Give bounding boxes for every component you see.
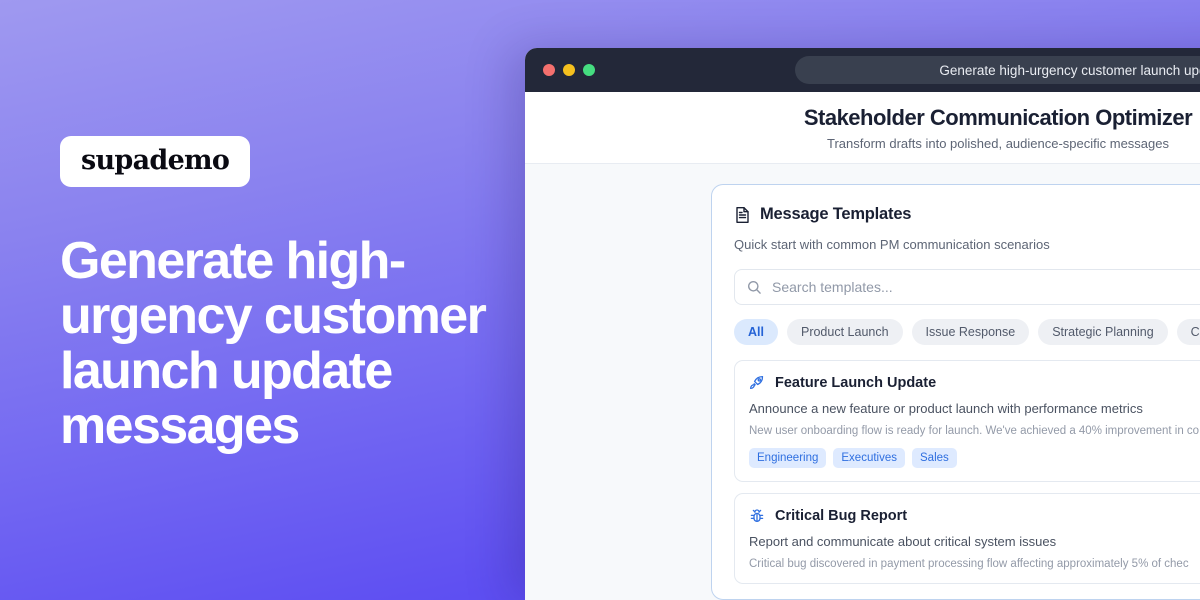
template-card-header: Feature Launch Update	[749, 375, 1200, 391]
template-description: Report and communicate about critical sy…	[749, 534, 1200, 549]
template-card-feature-launch[interactable]: Feature Launch Update Announce a new fea…	[734, 360, 1200, 482]
filter-chip-all[interactable]: All	[734, 319, 778, 345]
supademo-logo: supademo	[60, 136, 250, 187]
search-placeholder: Search templates...	[772, 279, 893, 295]
promo-panel: supademo Generate high-urgency customer …	[0, 0, 525, 600]
panel-subtitle: Quick start with common PM communication…	[734, 237, 1200, 252]
tag-sales[interactable]: Sales	[912, 448, 957, 468]
bug-icon	[749, 508, 765, 524]
app-header: Stakeholder Communication Optimizer Tran…	[525, 92, 1200, 164]
left-rail	[525, 184, 711, 600]
browser-titlebar: Generate high-urgency customer launch up…	[525, 48, 1200, 92]
filter-chip-product-launch[interactable]: Product Launch	[787, 319, 903, 345]
template-card-header: Critical Bug Report	[749, 508, 1200, 524]
maximize-button-icon[interactable]	[583, 64, 595, 76]
rocket-icon	[749, 375, 765, 391]
template-title: Feature Launch Update	[775, 375, 936, 391]
close-button-icon[interactable]	[543, 64, 555, 76]
template-tags: Engineering Executives Sales	[749, 448, 1200, 468]
tag-engineering[interactable]: Engineering	[749, 448, 826, 468]
template-preview: New user onboarding flow is ready for la…	[749, 425, 1200, 437]
window-controls[interactable]	[543, 64, 595, 76]
template-card-critical-bug[interactable]: Critical Bug Report Report and communica…	[734, 493, 1200, 584]
template-description: Announce a new feature or product launch…	[749, 401, 1200, 416]
browser-url-text: Generate high-urgency customer launch up…	[939, 63, 1200, 78]
filter-chip-issue-response[interactable]: Issue Response	[912, 319, 1030, 345]
document-icon	[734, 206, 751, 224]
template-preview: Critical bug discovered in payment proce…	[749, 558, 1200, 570]
panel-header: Message Templates	[734, 205, 1200, 224]
minimize-button-icon[interactable]	[563, 64, 575, 76]
promo-headline: Generate high-urgency customer launch up…	[60, 234, 490, 454]
filter-chip-strategic-planning[interactable]: Strategic Planning	[1038, 319, 1167, 345]
page-title: Stakeholder Communication Optimizer	[525, 105, 1200, 131]
search-icon	[747, 280, 762, 295]
tag-executives[interactable]: Executives	[833, 448, 905, 468]
supademo-logo-text: supademo	[81, 147, 229, 174]
page-subtitle: Transform drafts into polished, audience…	[525, 136, 1200, 151]
filter-chip-customer-success[interactable]: Customer Success	[1177, 319, 1200, 345]
browser-window: Generate high-urgency customer launch up…	[525, 48, 1200, 600]
template-list: Feature Launch Update Announce a new fea…	[734, 360, 1200, 584]
search-input[interactable]: Search templates...	[734, 269, 1200, 305]
message-templates-panel: Message Templates Quick start with commo…	[711, 184, 1200, 600]
app-body: Message Templates Quick start with commo…	[525, 164, 1200, 600]
template-title: Critical Bug Report	[775, 508, 907, 524]
browser-url-bar[interactable]: Generate high-urgency customer launch up…	[795, 56, 1200, 84]
filter-chip-group: All Product Launch Issue Response Strate…	[734, 319, 1200, 345]
panel-title: Message Templates	[760, 205, 911, 224]
